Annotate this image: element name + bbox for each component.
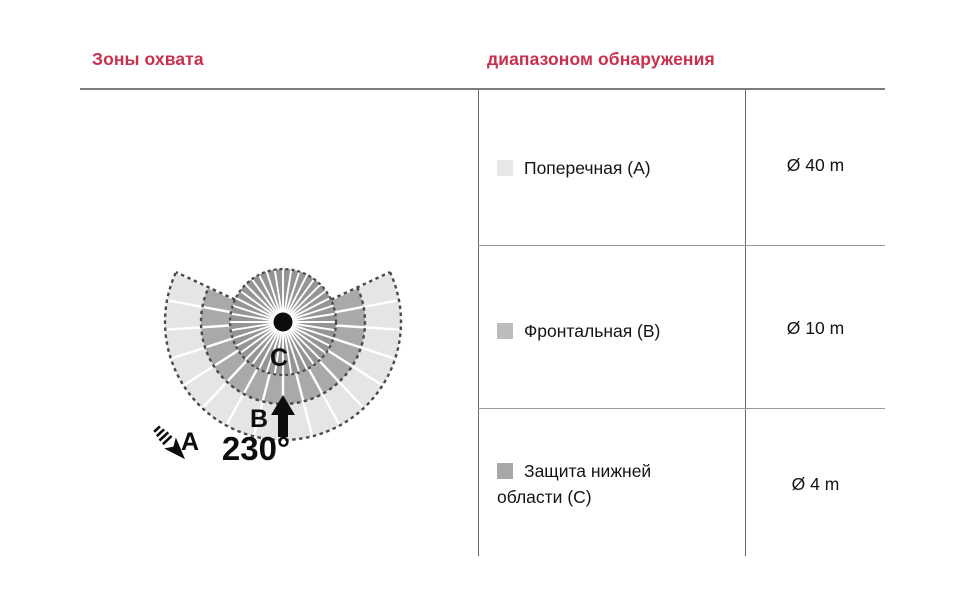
table-row: Защита нижнейобласти (C) xyxy=(497,458,735,510)
table-row-divider-1 xyxy=(478,245,885,246)
legend-swatch-c xyxy=(497,463,513,479)
page-title-coverage-zones: Зоны охвата xyxy=(92,49,204,70)
legend-value-b: Ø 10 m xyxy=(746,318,885,339)
legend-label-c-line2: области (C) xyxy=(497,487,592,507)
page-title-detection-range: диапазоном обнаружения xyxy=(487,49,715,70)
header-divider xyxy=(80,88,885,90)
legend-label-a: Поперечная (A) xyxy=(524,158,651,178)
legend-value-a: Ø 40 m xyxy=(746,155,885,176)
sensor-center-dot xyxy=(274,313,293,332)
detection-zones-figure: Зоны охвата диапазоном обнаружения Попер… xyxy=(0,0,970,608)
zone-a-label: A xyxy=(181,428,199,456)
zone-b-label: B xyxy=(250,405,268,433)
legend-value-c: Ø 4 m xyxy=(746,474,885,495)
legend-label-c-line1: Защита нижней xyxy=(524,461,651,481)
table-vertical-divider-left xyxy=(478,90,479,556)
coverage-zone-diagram: C B A 230° xyxy=(108,245,458,500)
legend-swatch-b xyxy=(497,323,513,339)
table-row-divider-2 xyxy=(478,408,885,409)
legend-label-b: Фронтальная (B) xyxy=(524,321,660,341)
table-row: Поперечная (A) xyxy=(497,155,735,181)
legend-swatch-a xyxy=(497,160,513,176)
table-row: Фронтальная (B) xyxy=(497,318,735,344)
zone-c-label: C xyxy=(270,344,288,372)
